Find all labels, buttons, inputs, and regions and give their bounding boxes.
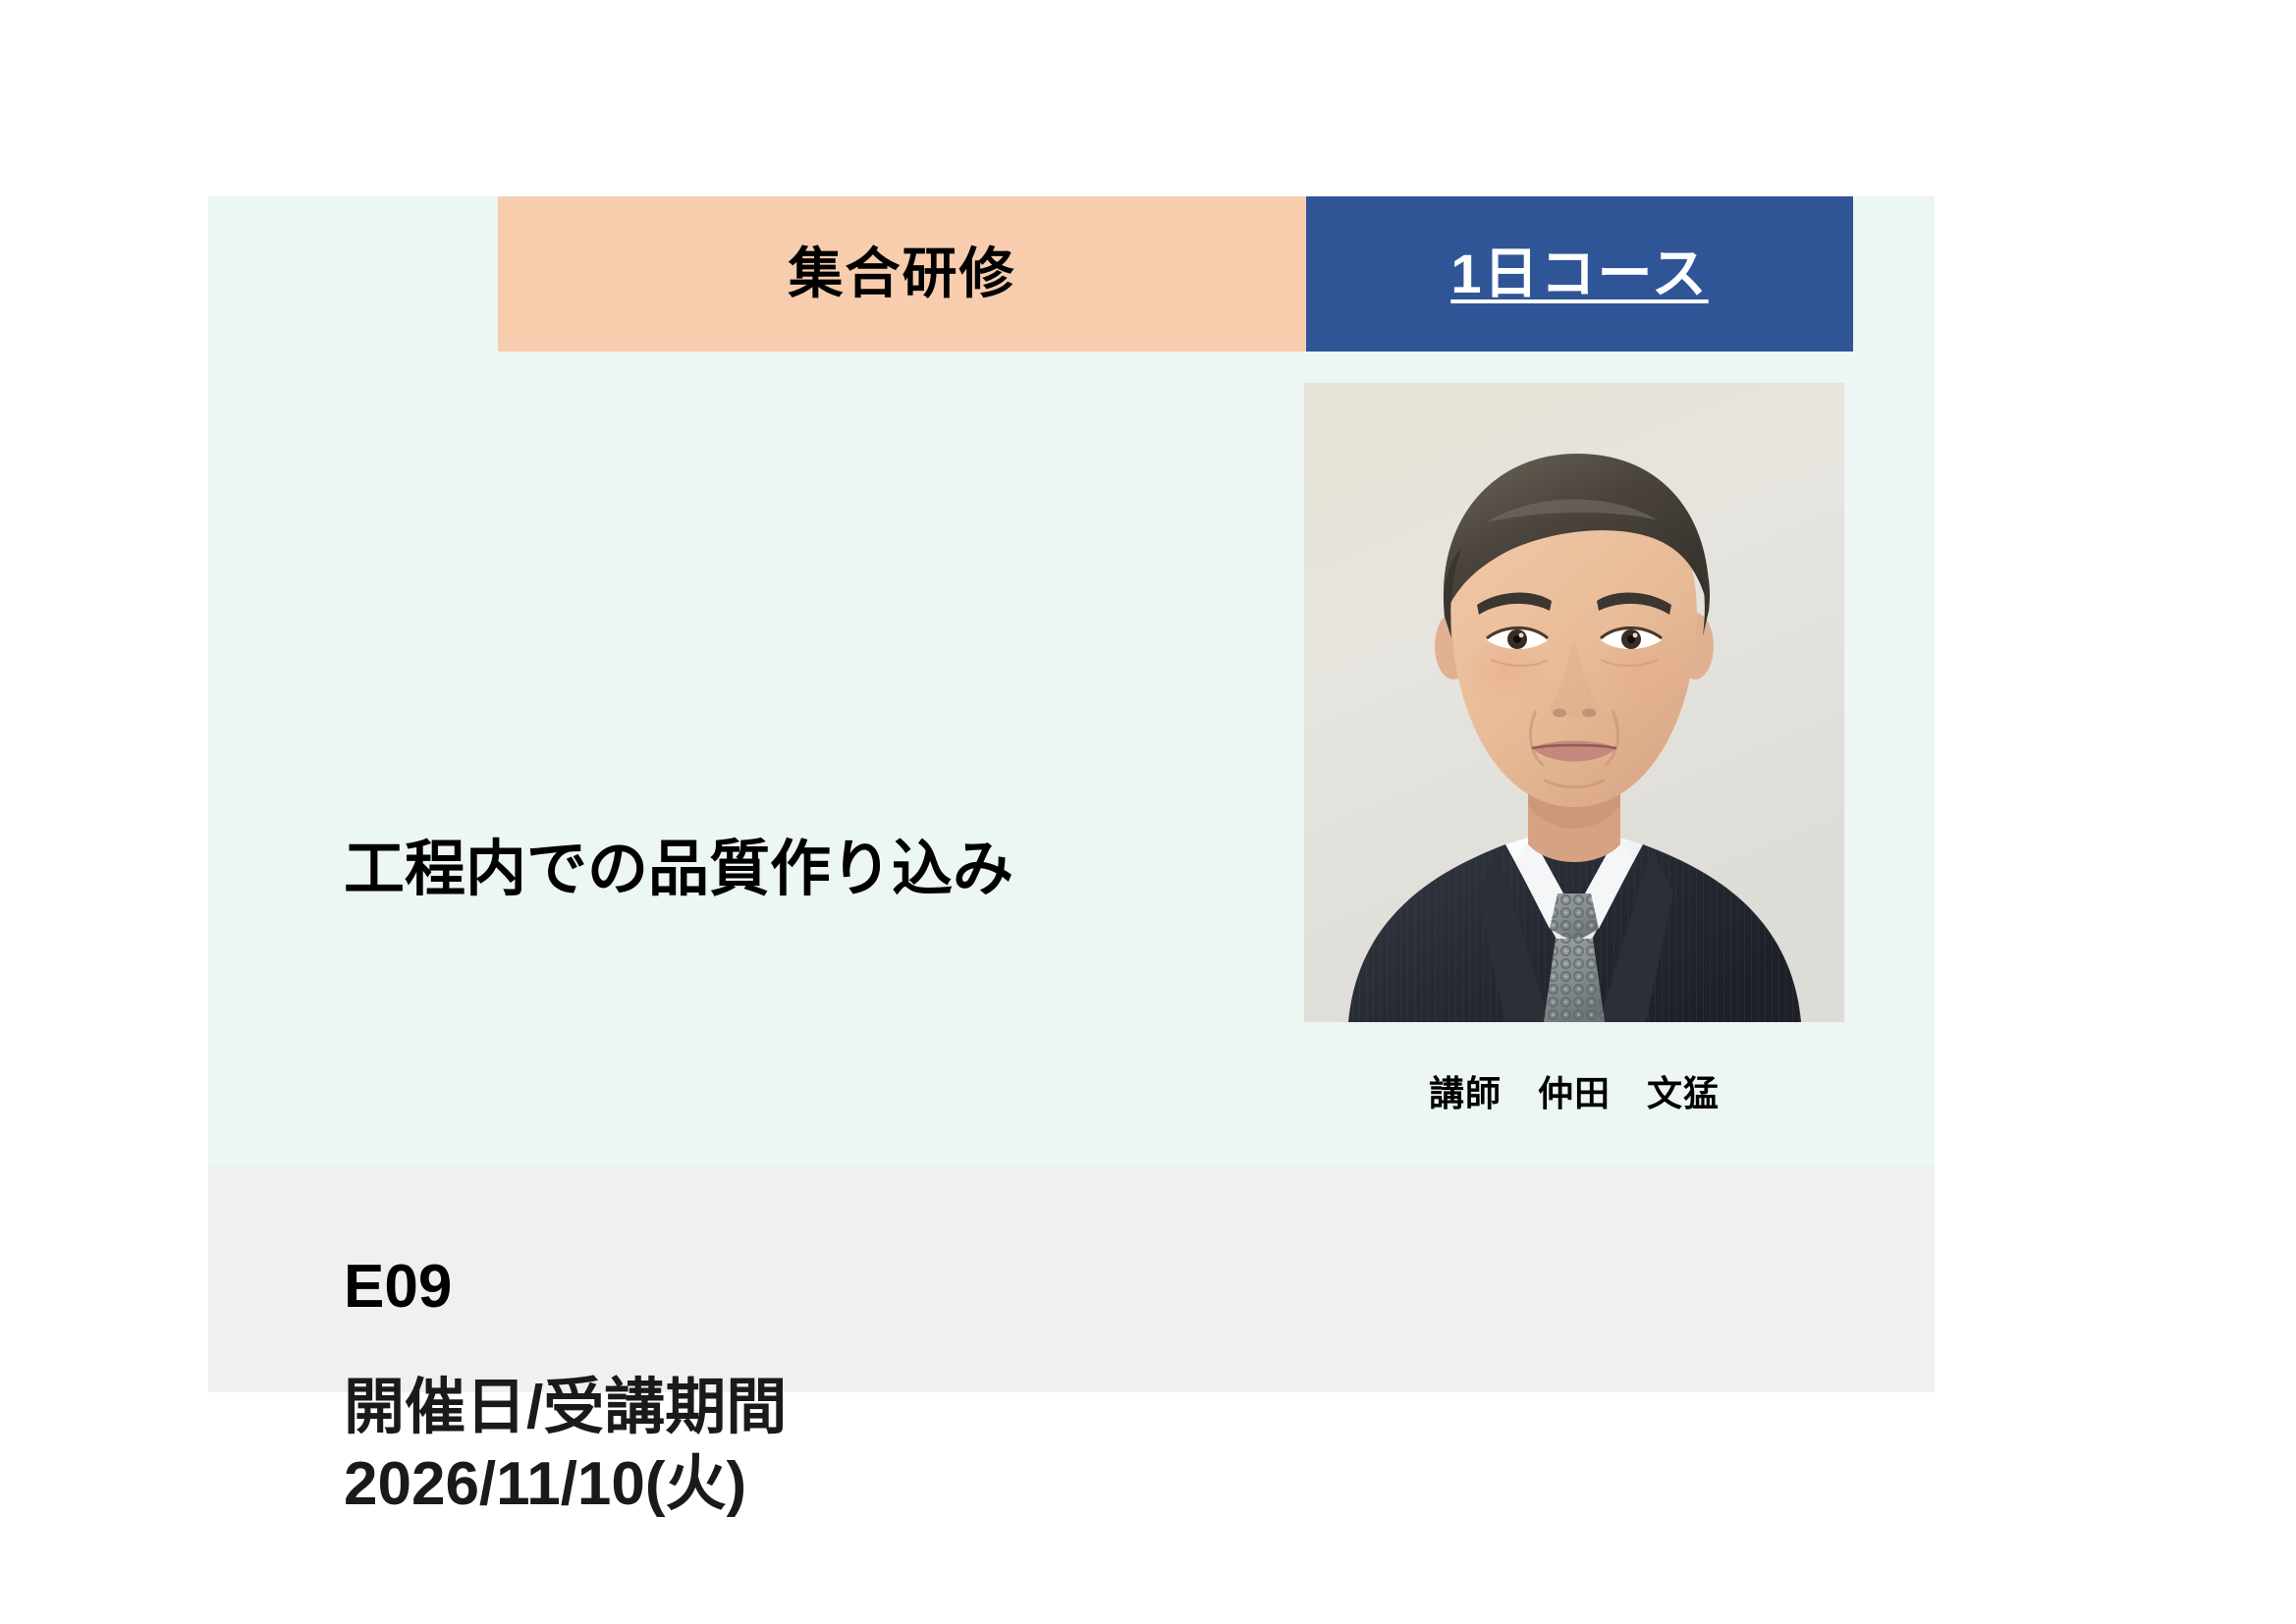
schedule-block: 開催日/受講期間 2026/11/10(火) (344, 1370, 1228, 1522)
training-mode-label: 集合研修 (789, 246, 1016, 301)
course-duration-label[interactable]: 1日コース (1450, 246, 1708, 301)
course-title: 工程内での品質作り込み (344, 835, 1188, 904)
course-duration-banner[interactable]: 1日コース (1306, 196, 1853, 352)
training-mode-banner: 集合研修 (498, 196, 1306, 352)
schedule-value: 2026/11/10(火) (344, 1446, 1228, 1523)
schedule-label: 開催日/受講期間 (344, 1370, 1228, 1446)
card-footer-panel (208, 1165, 1935, 1392)
course-code: E09 (344, 1257, 452, 1318)
instructor-photo (1304, 383, 1844, 1022)
banner-row: 集合研修 1日コース (498, 196, 1853, 352)
instructor-name: 講師 仲田 文猛 (1304, 1065, 1844, 1116)
course-card: 集合研修 1日コース 工程内での品質作り込み E09 開催日/受講期間 2026… (208, 196, 1935, 1392)
portrait-illustration (1304, 383, 1844, 1022)
